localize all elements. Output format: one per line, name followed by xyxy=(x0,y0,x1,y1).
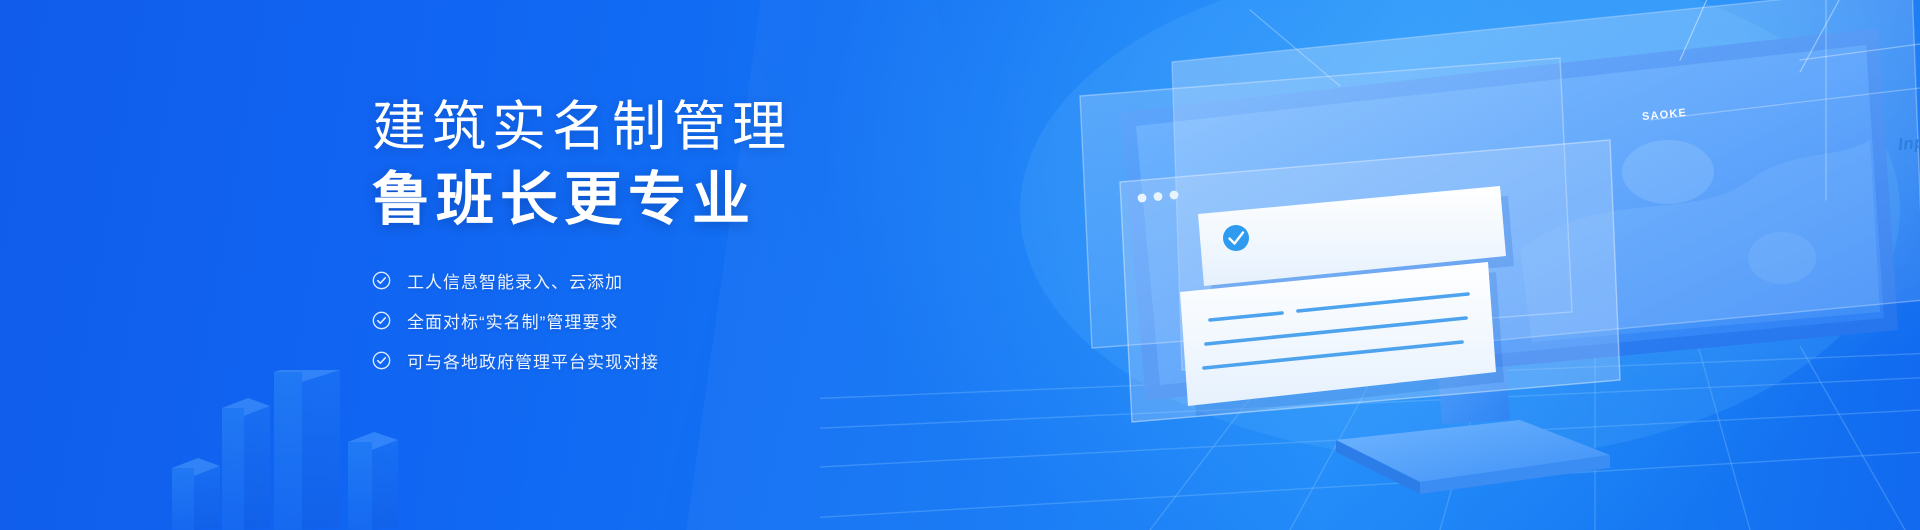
glass-panel-far xyxy=(1172,0,1920,370)
isometric-bars-decoration xyxy=(150,370,450,530)
hero-copy-block: 建筑实名制管理 鲁班长更专业 工人信息智能录入、云添加 全面对标“实名制”管理要… xyxy=(372,96,972,373)
hero-banner: 建筑实名制管理 鲁班长更专业 工人信息智能录入、云添加 全面对标“实名制”管理要… xyxy=(0,0,1920,530)
monitor-stand xyxy=(1336,330,1610,494)
list-item-label: 工人信息智能录入、云添加 xyxy=(407,268,623,293)
screen-wallpaper-blobs xyxy=(1520,140,1880,342)
window-traffic-dots xyxy=(1138,191,1179,203)
input-field-label: Input xyxy=(1897,131,1920,155)
iso-bar xyxy=(172,458,220,530)
list-item: 可与各地政府管理平台实现对接 xyxy=(372,348,972,373)
feature-bullet-list: 工人信息智能录入、云添加 全面对标“实名制”管理要求 可与各地政府管理平台实现对… xyxy=(372,268,972,373)
input-check-badge xyxy=(1223,225,1249,251)
content-text-lines xyxy=(1204,294,1468,368)
list-item-label: 全面对标“实名制”管理要求 xyxy=(407,308,618,333)
check-icon xyxy=(1230,233,1244,244)
monitor-body xyxy=(1120,28,1898,400)
input-field-card[interactable] xyxy=(1198,186,1514,296)
headline-line-2: 鲁班长更专业 xyxy=(372,166,972,234)
list-item: 工人信息智能录入、云添加 xyxy=(372,268,972,293)
app-window-panel xyxy=(1120,140,1620,422)
perspective-grid-floor xyxy=(820,346,1920,530)
check-circle-icon xyxy=(372,311,391,330)
monitor-glow xyxy=(1020,0,1900,460)
illustration-container: SAOKE Input xyxy=(820,0,1920,530)
content-lines-card xyxy=(1180,262,1504,416)
check-circle-icon xyxy=(372,271,391,290)
iso-bar xyxy=(222,398,270,530)
light-ray-decoration xyxy=(1250,0,1920,200)
iso-bar xyxy=(274,370,340,530)
iso-bar xyxy=(348,432,398,530)
list-item: 全面对标“实名制”管理要求 xyxy=(372,308,972,333)
glass-panel-near xyxy=(1080,58,1572,348)
check-circle-icon xyxy=(372,351,391,370)
window-brand-label: SAOKE xyxy=(1641,107,1687,123)
headline-line-1: 建筑实名制管理 xyxy=(372,96,972,160)
